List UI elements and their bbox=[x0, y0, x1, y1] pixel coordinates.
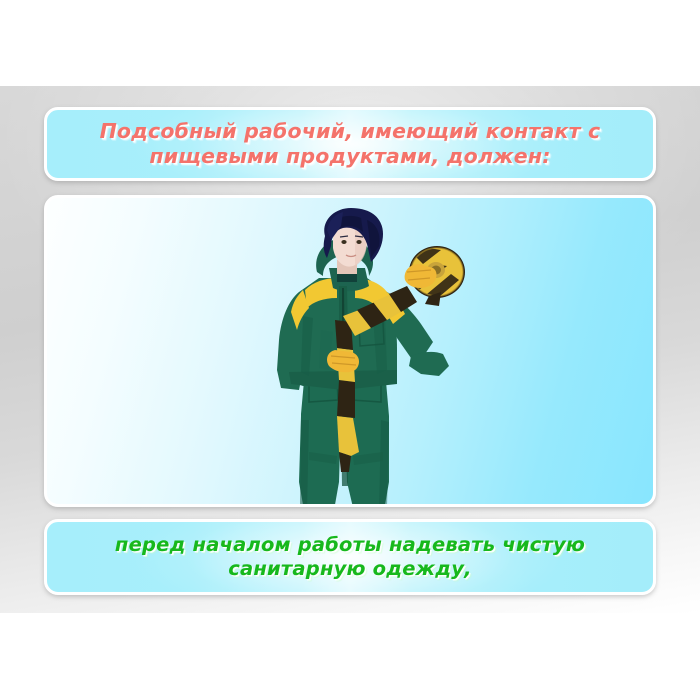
title-caption-text: Подсобный рабочий, имеющий контакт с пищ… bbox=[47, 110, 653, 178]
jacket bbox=[277, 238, 449, 390]
worker-illustration bbox=[47, 198, 656, 507]
head bbox=[324, 208, 383, 274]
answer-caption-text: перед началом работы надевать чистую сан… bbox=[47, 522, 653, 592]
answer-caption-box: перед началом работы надевать чистую сан… bbox=[44, 519, 656, 595]
hazard-tape bbox=[335, 246, 465, 472]
slide-root: Подсобный рабочий, имеющий контакт с пищ… bbox=[0, 0, 700, 700]
illustration-panel bbox=[44, 195, 656, 507]
tape-roll bbox=[409, 246, 465, 306]
title-caption-box: Подсобный рабочий, имеющий контакт с пищ… bbox=[44, 107, 656, 181]
trousers bbox=[299, 370, 389, 507]
gloves bbox=[327, 264, 436, 372]
